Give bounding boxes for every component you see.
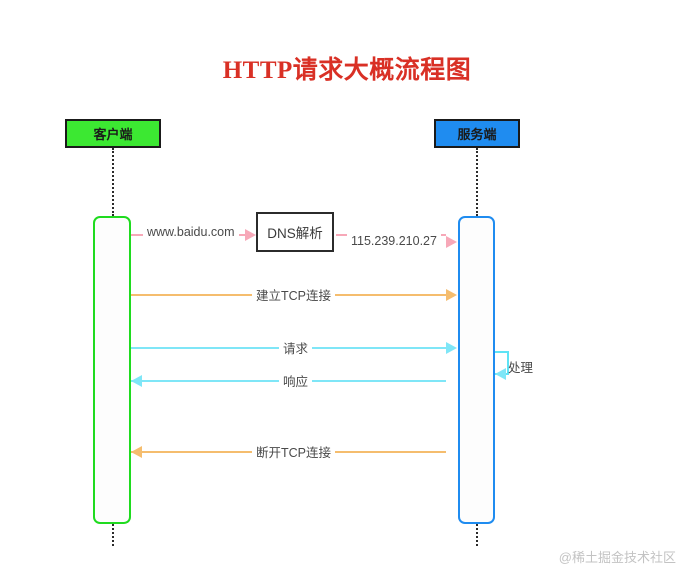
watermark: @稀土掘金技术社区 (559, 547, 676, 566)
arrow-head-dns-request (245, 229, 256, 241)
lifeline-client-bottom (112, 524, 114, 546)
lifeline-client-top (112, 148, 114, 216)
self-message-label: 处理 (508, 357, 533, 376)
process-box-dns[interactable]: DNS解析 (256, 212, 334, 252)
process-box-dns-label: DNS解析 (267, 222, 323, 242)
arrow-head-self-message (495, 368, 506, 380)
message-label-tcp-connect: 建立TCP连接 (252, 285, 335, 304)
participant-server[interactable]: 服务端 (434, 119, 520, 148)
message-label-http-request: 请求 (279, 338, 312, 357)
arrow-head-tcp-connect (446, 289, 457, 301)
participant-client-label: 客户端 (93, 124, 132, 143)
participant-client[interactable]: 客户端 (65, 119, 161, 148)
arrow-head-http-request (446, 342, 457, 354)
message-label-http-response: 响应 (279, 371, 312, 390)
message-label-dns-result: 115.239.210.27 (347, 234, 441, 248)
page-title: HTTP请求大概流程图 (0, 50, 694, 86)
lifeline-server-top (476, 148, 478, 216)
activation-bar-server (458, 216, 495, 524)
message-label-tcp-disconnect: 断开TCP连接 (252, 442, 335, 461)
arrow-head-tcp-disconnect (131, 446, 142, 458)
lifeline-server-bottom (476, 524, 478, 546)
arrow-head-http-response (131, 375, 142, 387)
sequence-diagram-canvas: HTTP请求大概流程图 客户端 服务端 www.baidu.com DNS解析 … (0, 0, 694, 580)
activation-bar-client (93, 216, 131, 524)
message-label-dns-request: www.baidu.com (143, 225, 239, 239)
arrow-head-dns-result (446, 236, 457, 248)
participant-server-label: 服务端 (457, 124, 496, 143)
